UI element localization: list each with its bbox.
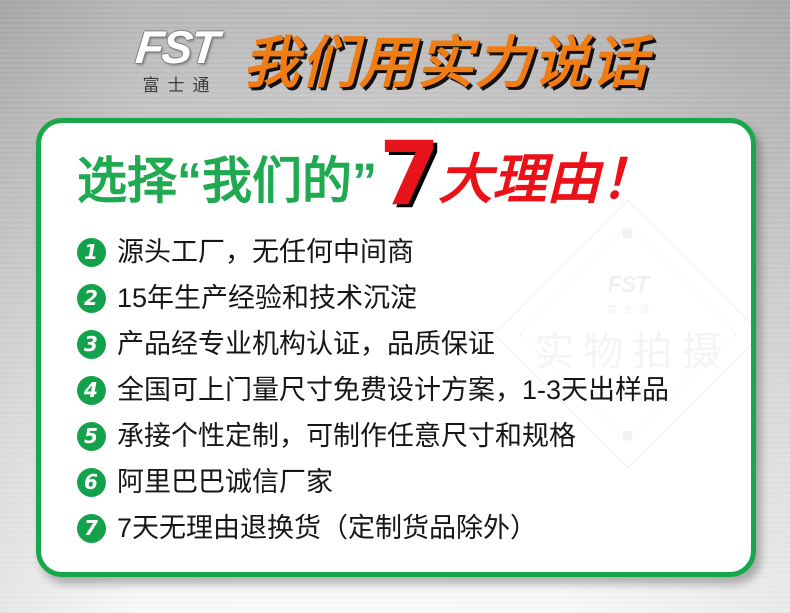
list-item: 5 承接个性定制，可制作任意尺寸和规格	[77, 413, 737, 459]
list-item: 2 15年生产经验和技术沉淀	[77, 275, 737, 321]
brand-logo-mark: FST	[133, 22, 219, 72]
panel-title-number: 7	[379, 143, 440, 205]
reason-badge-1: 1	[77, 238, 106, 267]
list-item: 4 全国可上门量尺寸免费设计方案，1-3天出样品	[77, 367, 737, 413]
brand-logo-subtitle: 富士通	[135, 76, 218, 96]
reason-text-7: 7天无理由退换货（定制货品除外）	[117, 513, 537, 543]
reason-text-2: 15年生产经验和技术沉淀	[117, 283, 417, 313]
reason-text-1: 源头工厂，无任何中间商	[117, 237, 414, 267]
content-panel: FST 富士通 实物拍摄 盗图必究 选择“我们的” 7 大理由！ 1 源头工厂，…	[36, 118, 756, 577]
panel-title-green-part: 选择“我们的”	[77, 150, 377, 212]
reason-badge-2: 2	[77, 284, 106, 313]
reason-text-6: 阿里巴巴诚信厂家	[117, 467, 333, 497]
brand-logo: FST 富士通	[113, 22, 239, 106]
reason-badge-6: 6	[77, 468, 106, 497]
reason-badge-3: 3	[77, 330, 106, 359]
list-item: 7 7天无理由退换货（定制货品除外）	[77, 505, 737, 551]
list-item: 3 产品经专业机构认证，品质保证	[77, 321, 737, 367]
reason-text-4: 全国可上门量尺寸免费设计方案，1-3天出样品	[117, 375, 669, 405]
panel-title: 选择“我们的” 7 大理由！	[77, 137, 654, 212]
panel-title-red-part: 大理由！	[438, 149, 654, 211]
reason-badge-4: 4	[77, 376, 106, 405]
poster-header: FST 富士通 我们用实力说话	[0, 0, 790, 112]
promo-poster: FST 富士通 我们用实力说话 FST 富士通 实物拍摄 盗图必究 选择“我们的…	[0, 0, 790, 613]
reason-badge-5: 5	[77, 422, 106, 451]
reason-list: 1 源头工厂，无任何中间商 2 15年生产经验和技术沉淀 3 产品经专业机构认证…	[77, 229, 737, 551]
reason-text-3: 产品经专业机构认证，品质保证	[117, 329, 495, 359]
reason-badge-7: 7	[77, 514, 106, 543]
poster-headline: 我们用实力说话	[243, 27, 649, 99]
list-item: 1 源头工厂，无任何中间商	[77, 229, 737, 275]
reason-text-5: 承接个性定制，可制作任意尺寸和规格	[117, 421, 576, 451]
list-item: 6 阿里巴巴诚信厂家	[77, 459, 737, 505]
